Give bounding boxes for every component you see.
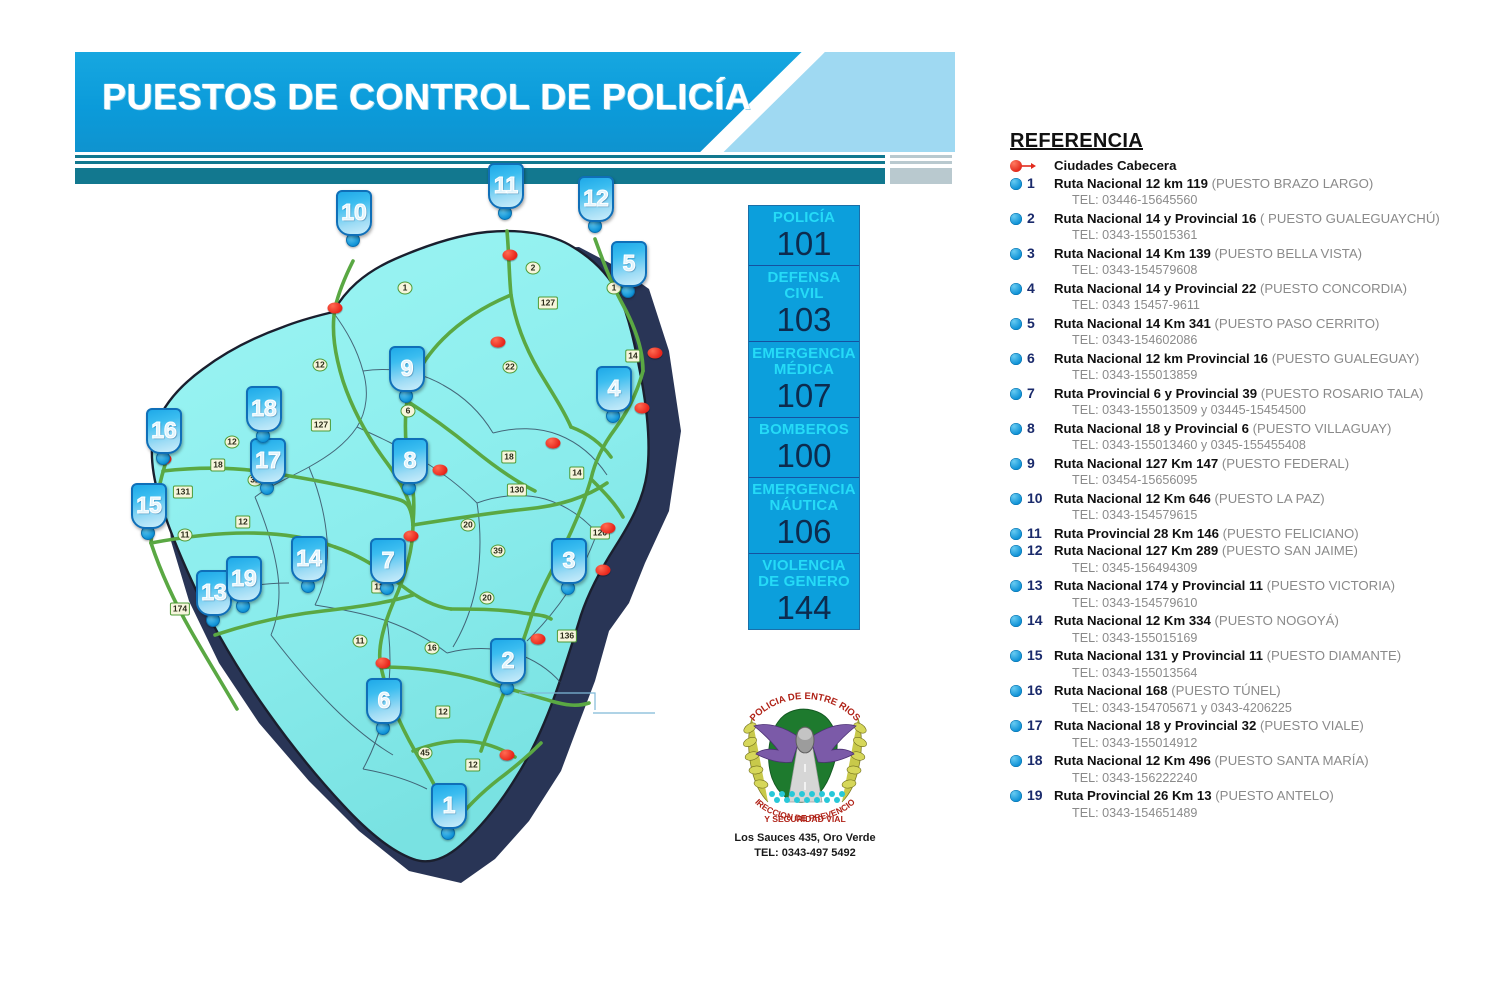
legend-item-number: 12 xyxy=(1027,542,1049,558)
legend-item-place: ( PUESTO GUALEGUAYCHÚ) xyxy=(1260,211,1440,226)
legend-item-place: (PUESTO VICTORIA) xyxy=(1267,578,1395,593)
control-post-marker-2[interactable]: 2 xyxy=(490,638,524,695)
legend-item-6: 6Ruta Nacional 12 km Provincial 16 (PUES… xyxy=(1010,350,1480,368)
legend-item-number: 6 xyxy=(1027,350,1049,366)
legend-item-7: 7Ruta Provincial 6 y Provincial 39 (PUES… xyxy=(1010,385,1480,403)
marker-shield-icon: 11 xyxy=(488,163,524,209)
emergency-cell-4: EMERGENCIA NÁUTICA106 xyxy=(749,478,859,554)
legend-item-place: (PUESTO BELLA VISTA) xyxy=(1215,246,1363,261)
legend-item-18: 18Ruta Nacional 12 Km 496 (PUESTO SANTA … xyxy=(1010,752,1480,770)
route-shield-131-14: 131 xyxy=(173,486,193,499)
crest-phone: TEL: 0343-497 5492 xyxy=(715,846,895,860)
legend-item-place: (PUESTO DIAMANTE) xyxy=(1267,648,1402,663)
legend-item-route: Ruta Nacional 127 Km 289 xyxy=(1054,543,1222,558)
legend-item-5: 5Ruta Nacional 14 Km 341 (PUESTO PASO CE… xyxy=(1010,315,1480,333)
legend-item-tel: TEL: 03446-15645560 xyxy=(1010,192,1480,210)
legend-item-route: Ruta Nacional 14 Km 341 xyxy=(1054,316,1215,331)
legend-item-number: 13 xyxy=(1027,577,1049,593)
marker-number: 7 xyxy=(372,544,404,576)
marker-number: 17 xyxy=(252,444,284,476)
legend-title: REFERENCIA xyxy=(1010,130,1480,153)
marker-shield-icon: 7 xyxy=(370,538,406,584)
emergency-number: 100 xyxy=(751,438,857,473)
legend-item-tel: TEL: 0343-154579610 xyxy=(1010,595,1480,613)
legend-item-tel: TEL: 0343-155013859 xyxy=(1010,367,1480,385)
legend-item-tel: TEL: 0345-156494309 xyxy=(1010,560,1480,578)
legend-item-text: Ruta Nacional 14 Km 341 (PUESTO PASO CER… xyxy=(1054,315,1480,333)
city-dot-0 xyxy=(328,303,343,314)
legend-bullet-icon xyxy=(1010,353,1022,365)
legend-item-route: Ruta Nacional 18 y Provincial 32 xyxy=(1054,718,1260,733)
route-shield-22-6: 22 xyxy=(503,361,518,374)
legend-item-9: 9Ruta Nacional 127 Km 147 (PUESTO FEDERA… xyxy=(1010,455,1480,473)
emergency-cell-3: BOMBEROS100 xyxy=(749,418,859,478)
city-dot-15 xyxy=(500,750,515,761)
control-post-marker-1[interactable]: 1 xyxy=(431,783,465,840)
route-shield-12-28: 12 xyxy=(435,706,450,719)
control-post-marker-4[interactable]: 4 xyxy=(596,366,630,423)
legend-bullet-icon xyxy=(1010,528,1022,540)
legend-item-route: Ruta Nacional 131 y Provincial 11 xyxy=(1054,648,1267,663)
marker-shield-icon: 16 xyxy=(146,408,182,454)
legend-bullet-icon xyxy=(1010,283,1022,295)
marker-shield-icon: 18 xyxy=(246,386,282,432)
marker-shield-icon: 6 xyxy=(366,678,402,724)
marker-shield-icon: 8 xyxy=(392,438,428,484)
route-shield-130-15: 130 xyxy=(507,484,527,497)
legend-bullet-icon xyxy=(1010,720,1022,732)
route-shield-39-19: 39 xyxy=(491,545,506,558)
marker-number: 3 xyxy=(553,544,585,576)
legend-item-route: Ruta Nacional 174 y Provincial 11 xyxy=(1054,578,1267,593)
arrow-icon xyxy=(1022,162,1038,170)
legend-item-tel: TEL: 03454-15656095 xyxy=(1010,472,1480,490)
control-post-marker-9[interactable]: 9 xyxy=(389,346,423,403)
marker-number: 12 xyxy=(580,182,612,214)
legend-bullet-icon xyxy=(1010,493,1022,505)
legend-bullet-icon xyxy=(1010,178,1022,190)
city-dot-8 xyxy=(596,565,611,576)
stripe-thin-2 xyxy=(75,161,885,164)
legend-item-19: 19Ruta Provincial 26 Km 13 (PUESTO ANTEL… xyxy=(1010,787,1480,805)
control-post-marker-13[interactable]: 13 xyxy=(196,570,230,627)
route-shield-2-1: 2 xyxy=(526,262,541,275)
legend-item-text: Ruta Nacional 12 Km 646 (PUESTO LA PAZ) xyxy=(1054,490,1480,508)
legend-item-number: 14 xyxy=(1027,612,1049,628)
legend-item-route: Ruta Provincial 28 Km 146 xyxy=(1054,526,1223,541)
legend-item-12: 12Ruta Nacional 127 Km 289 (PUESTO SAN J… xyxy=(1010,542,1480,560)
legend-item-place: (PUESTO FELICIANO) xyxy=(1223,526,1359,541)
marker-number: 6 xyxy=(368,684,400,716)
legend-item-tel: TEL: 0343 15457-9611 xyxy=(1010,297,1480,315)
route-shield-12-11: 12 xyxy=(225,436,240,449)
legend-item-tel: TEL: 0343-155013460 y 0345-155455408 xyxy=(1010,437,1480,455)
legend-item-4: 4Ruta Nacional 14 y Provincial 22 (PUEST… xyxy=(1010,280,1480,298)
control-post-marker-16[interactable]: 16 xyxy=(146,408,180,465)
route-shield-20-23: 20 xyxy=(480,592,495,605)
legend-item-14: 14Ruta Nacional 12 Km 334 (PUESTO NOGOYÁ… xyxy=(1010,612,1480,630)
control-post-marker-17[interactable]: 17 xyxy=(250,438,284,495)
legend-item-tel: TEL: 0343-154705671 y 0343-4206225 xyxy=(1010,700,1480,718)
route-shield-14-4: 14 xyxy=(625,350,640,363)
entre-rios-map[interactable]: 1211271412226127181412183213113011122039… xyxy=(95,195,695,895)
emergency-cell-0: POLICÍA101 xyxy=(749,206,859,266)
legend-item-tel: TEL: 0343-154579615 xyxy=(1010,507,1480,525)
route-shield-11-24: 11 xyxy=(353,635,368,648)
legend-item-place: (PUESTO ROSARIO TALA) xyxy=(1261,386,1424,401)
marker-number: 2 xyxy=(492,644,524,676)
legend-item-number: 1 xyxy=(1027,175,1049,191)
legend-item-route: Ruta Nacional 12 Km 646 xyxy=(1054,491,1215,506)
route-shield-127-3: 127 xyxy=(538,297,558,310)
control-post-marker-5[interactable]: 5 xyxy=(611,241,645,298)
route-shield-18-9: 18 xyxy=(501,451,516,464)
legend-item-text: Ruta Nacional 14 y Provincial 22 (PUESTO… xyxy=(1054,280,1480,298)
legend-item-text: Ruta Nacional 18 y Provincial 32 (PUESTO… xyxy=(1054,717,1480,735)
legend-item-10: 10Ruta Nacional 12 Km 646 (PUESTO LA PAZ… xyxy=(1010,490,1480,508)
city-dot-4 xyxy=(635,403,650,414)
control-post-marker-10[interactable]: 10 xyxy=(336,190,370,247)
legend-bullet-icon xyxy=(1010,248,1022,260)
marker-number: 16 xyxy=(148,414,180,446)
route-shield-14-10: 14 xyxy=(569,467,584,480)
city-dot-2 xyxy=(491,337,506,348)
city-dot-icon xyxy=(1010,160,1022,172)
legend-item-route: Ruta Provincial 6 y Provincial 39 xyxy=(1054,386,1261,401)
marker-shield-icon: 17 xyxy=(250,438,286,484)
legend-bullet-icon xyxy=(1010,755,1022,767)
stripe-thin-1 xyxy=(75,155,885,158)
police-crest: POLICIA DE ENTRE RIOS DIRECCION DE PREVE… xyxy=(715,690,895,860)
marker-number: 18 xyxy=(248,392,280,424)
crest-bottom-text-2: Y SEGURIDAD VIAL xyxy=(764,814,846,824)
legend-bullet-icon xyxy=(1010,790,1022,802)
legend-panel: REFERENCIA Ciudades Cabecera 1Ruta Nacio… xyxy=(1010,130,1480,822)
emergency-numbers-panel: POLICÍA101DEFENSA CIVIL103EMERGENCIA MÉD… xyxy=(748,205,860,630)
legend-item-place: (PUESTO FEDERAL) xyxy=(1222,456,1349,471)
header-banner: PUESTOS DE CONTROL DE POLICÍA xyxy=(75,52,955,152)
legend-item-number: 10 xyxy=(1027,490,1049,506)
legend-item-list: 1Ruta Nacional 12 km 119 (PUESTO BRAZO L… xyxy=(1010,175,1480,823)
legend-item-3: 3Ruta Nacional 14 Km 139 (PUESTO BELLA V… xyxy=(1010,245,1480,263)
stripe-right-1 xyxy=(890,155,952,158)
legend-city-label: Ciudades Cabecera xyxy=(1054,157,1480,175)
emergency-label: EMERGENCIA NÁUTICA xyxy=(751,482,857,514)
legend-item-place: (PUESTO SAN JAIME) xyxy=(1222,543,1358,558)
legend-item-route: Ruta Nacional 168 xyxy=(1054,683,1171,698)
marker-number: 15 xyxy=(133,489,165,521)
legend-item-text: Ruta Nacional 127 Km 289 (PUESTO SAN JAI… xyxy=(1054,542,1480,560)
marker-shield-icon: 3 xyxy=(551,538,587,584)
stripe-thick xyxy=(75,168,885,184)
emergency-label: VIOLENCIA DE GENERO xyxy=(751,558,857,590)
marker-number: 11 xyxy=(490,169,522,201)
emergency-number: 103 xyxy=(751,302,857,337)
crest-emblem: POLICIA DE ENTRE RIOS DIRECCION DE PREVE… xyxy=(730,690,880,830)
route-shield-6-7: 6 xyxy=(401,405,416,418)
marker-number: 10 xyxy=(338,196,370,228)
control-post-marker-14[interactable]: 14 xyxy=(291,536,325,593)
emergency-number: 144 xyxy=(751,590,857,625)
route-shield-136-26: 136 xyxy=(557,630,577,643)
legend-item-number: 19 xyxy=(1027,787,1049,803)
emergency-cell-2: EMERGENCIA MÉDICA107 xyxy=(749,342,859,418)
legend-bullet-icon xyxy=(1010,423,1022,435)
route-shield-12-30: 12 xyxy=(465,759,480,772)
legend-bullet-icon xyxy=(1010,650,1022,662)
legend-item-text: Ruta Nacional 127 Km 147 (PUESTO FEDERAL… xyxy=(1054,455,1480,473)
marker-shield-icon: 4 xyxy=(596,366,632,412)
legend-item-2: 2Ruta Nacional 14 y Provincial 16 ( PUES… xyxy=(1010,210,1480,228)
emergency-cell-1: DEFENSA CIVIL103 xyxy=(749,266,859,342)
legend-item-route: Ruta Nacional 127 Km 147 xyxy=(1054,456,1222,471)
legend-item-text: Ruta Nacional 131 y Provincial 11 (PUEST… xyxy=(1054,647,1480,665)
control-post-marker-12[interactable]: 12 xyxy=(578,176,612,233)
legend-item-tel: TEL: 0343-155013509 y 03445-15454500 xyxy=(1010,402,1480,420)
legend-item-route: Ruta Nacional 18 y Provincial 6 xyxy=(1054,421,1253,436)
legend-item-text: Ruta Nacional 174 y Provincial 11 (PUEST… xyxy=(1054,577,1480,595)
legend-item-tel: TEL: 0343-155015169 xyxy=(1010,630,1480,648)
marker-number: 1 xyxy=(433,789,465,821)
legend-item-number: 3 xyxy=(1027,245,1049,261)
marker-number: 9 xyxy=(391,352,423,384)
legend-item-place: (PUESTO VIALE) xyxy=(1260,718,1364,733)
legend-item-place: (PUESTO TÚNEL) xyxy=(1171,683,1280,698)
legend-item-place: (PUESTO NOGOYÁ) xyxy=(1215,613,1339,628)
marker-shield-icon: 9 xyxy=(389,346,425,392)
legend-item-place: (PUESTO GUALEGUAY) xyxy=(1272,351,1420,366)
city-dot-7 xyxy=(601,523,616,534)
marker-shield-icon: 12 xyxy=(578,176,614,222)
control-post-marker-19[interactable]: 19 xyxy=(226,556,260,613)
legend-item-text: Ruta Nacional 18 y Provincial 6 (PUESTO … xyxy=(1054,420,1480,438)
marker-number: 5 xyxy=(613,247,645,279)
legend-item-place: (PUESTO BRAZO LARGO) xyxy=(1212,176,1374,191)
legend-item-number: 7 xyxy=(1027,385,1049,401)
marker-shield-icon: 1 xyxy=(431,783,467,829)
legend-item-text: Ruta Nacional 14 Km 139 (PUESTO BELLA VI… xyxy=(1054,245,1480,263)
city-dot-3 xyxy=(648,348,663,359)
legend-item-number: 9 xyxy=(1027,455,1049,471)
marker-number: 8 xyxy=(394,444,426,476)
legend-bullet-icon xyxy=(1010,318,1022,330)
legend-item-place: (PUESTO LA PAZ) xyxy=(1215,491,1325,506)
legend-item-text: Ruta Nacional 12 km 119 (PUESTO BRAZO LA… xyxy=(1054,175,1480,193)
route-shield-12-5: 12 xyxy=(313,359,328,372)
city-dot-6 xyxy=(546,438,561,449)
route-shield-11-16: 11 xyxy=(178,529,193,542)
legend-bullet-icon xyxy=(1010,545,1022,557)
marker-number: 14 xyxy=(293,542,325,574)
legend-item-13: 13Ruta Nacional 174 y Provincial 11 (PUE… xyxy=(1010,577,1480,595)
legend-item-tel: TEL: 0343-154602086 xyxy=(1010,332,1480,350)
legend-item-place: (PUESTO VILLAGUAY) xyxy=(1253,421,1392,436)
legend-item-tel: TEL: 0343-155015361 xyxy=(1010,227,1480,245)
legend-item-text: Ruta Provincial 6 y Provincial 39 (PUEST… xyxy=(1054,385,1480,403)
marker-number: 19 xyxy=(228,562,260,594)
legend-item-route: Ruta Nacional 14 y Provincial 22 xyxy=(1054,281,1260,296)
marker-shield-icon: 19 xyxy=(226,556,262,602)
legend-item-number: 8 xyxy=(1027,420,1049,436)
legend-item-number: 5 xyxy=(1027,315,1049,331)
legend-bullet-icon xyxy=(1010,388,1022,400)
legend-item-number: 17 xyxy=(1027,717,1049,733)
route-shield-16-25: 16 xyxy=(425,642,440,655)
legend-item-text: Ruta Nacional 168 (PUESTO TÚNEL) xyxy=(1054,682,1480,700)
legend-item-text: Ruta Nacional 12 Km 496 (PUESTO SANTA MA… xyxy=(1054,752,1480,770)
legend-item-text: Ruta Provincial 26 Km 13 (PUESTO ANTELO) xyxy=(1054,787,1480,805)
route-shield-174-21: 174 xyxy=(170,603,190,616)
legend-item-number: 4 xyxy=(1027,280,1049,296)
control-post-marker-18[interactable]: 18 xyxy=(246,386,280,443)
legend-item-route: Ruta Nacional 12 Km 496 xyxy=(1054,753,1215,768)
emergency-number: 107 xyxy=(751,378,857,413)
marker-shield-icon: 10 xyxy=(336,190,372,236)
legend-item-route: Ruta Nacional 12 km 119 xyxy=(1054,176,1212,191)
legend-item-place: (PUESTO PASO CERRITO) xyxy=(1215,316,1380,331)
legend-item-1: 1Ruta Nacional 12 km 119 (PUESTO BRAZO L… xyxy=(1010,175,1480,193)
legend-item-route: Ruta Provincial 26 Km 13 xyxy=(1054,788,1215,803)
legend-item-place: (PUESTO SANTA MARÍA) xyxy=(1215,753,1369,768)
legend-bullet-icon xyxy=(1010,615,1022,627)
legend-item-11: 11Ruta Provincial 28 Km 146 (PUESTO FELI… xyxy=(1010,525,1480,543)
legend-bullet-icon xyxy=(1010,580,1022,592)
legend-bullet-icon xyxy=(1010,685,1022,697)
legend-item-route: Ruta Nacional 14 Km 139 xyxy=(1054,246,1215,261)
legend-item-15: 15Ruta Nacional 131 y Provincial 11 (PUE… xyxy=(1010,647,1480,665)
page-title: PUESTOS DE CONTROL DE POLICÍA xyxy=(102,76,751,118)
legend-item-text: Ruta Nacional 12 km Provincial 16 (PUEST… xyxy=(1054,350,1480,368)
legend-item-tel: TEL: 0343-155013564 xyxy=(1010,665,1480,683)
emergency-label: BOMBEROS xyxy=(751,422,857,438)
control-post-marker-15[interactable]: 15 xyxy=(131,483,165,540)
stripe-right-2 xyxy=(890,161,952,164)
legend-item-ciudades-cabecera: Ciudades Cabecera xyxy=(1010,157,1480,175)
legend-item-number: 15 xyxy=(1027,647,1049,663)
marker-number: 4 xyxy=(598,372,630,404)
legend-item-tel: TEL: 0343-156222240 xyxy=(1010,770,1480,788)
legend-item-route: Ruta Nacional 14 y Provincial 16 xyxy=(1054,211,1260,226)
legend-item-number: 16 xyxy=(1027,682,1049,698)
emergency-label: POLICÍA xyxy=(751,210,857,226)
city-dot-9 xyxy=(404,531,419,542)
legend-item-number: 2 xyxy=(1027,210,1049,226)
legend-item-number: 18 xyxy=(1027,752,1049,768)
emergency-label: EMERGENCIA MÉDICA xyxy=(751,346,857,378)
control-post-marker-3[interactable]: 3 xyxy=(551,538,585,595)
marker-shield-icon: 14 xyxy=(291,536,327,582)
marker-shield-icon: 2 xyxy=(490,638,526,684)
route-shield-1-0: 1 xyxy=(398,282,413,295)
route-shield-45-29: 45 xyxy=(418,747,433,760)
legend-item-route: Ruta Nacional 12 Km 334 xyxy=(1054,613,1215,628)
legend-item-tel: TEL: 0343-154579608 xyxy=(1010,262,1480,280)
emergency-cell-5: VIOLENCIA DE GENERO144 xyxy=(749,554,859,629)
legend-item-tel: TEL: 0343-154651489 xyxy=(1010,805,1480,823)
emergency-number: 101 xyxy=(751,226,857,261)
city-dot-5 xyxy=(433,465,448,476)
legend-item-8: 8Ruta Nacional 18 y Provincial 6 (PUESTO… xyxy=(1010,420,1480,438)
legend-item-17: 17Ruta Nacional 18 y Provincial 32 (PUES… xyxy=(1010,717,1480,735)
legend-item-number: 11 xyxy=(1027,525,1049,541)
legend-item-tel: TEL: 0343-155014912 xyxy=(1010,735,1480,753)
legend-bullet-icon xyxy=(1010,213,1022,225)
city-dot-13 xyxy=(376,658,391,669)
control-post-marker-6[interactable]: 6 xyxy=(366,678,400,735)
control-post-marker-8[interactable]: 8 xyxy=(392,438,426,495)
legend-item-route: Ruta Nacional 12 km Provincial 16 xyxy=(1054,351,1272,366)
legend-item-text: Ruta Nacional 14 y Provincial 16 ( PUEST… xyxy=(1054,210,1480,228)
stripe-right-3 xyxy=(890,168,952,184)
control-post-marker-11[interactable]: 11 xyxy=(488,163,522,220)
emergency-number: 106 xyxy=(751,514,857,549)
legend-item-text: Ruta Provincial 28 Km 146 (PUESTO FELICI… xyxy=(1054,525,1480,543)
legend-item-16: 16Ruta Nacional 168 (PUESTO TÚNEL) xyxy=(1010,682,1480,700)
route-shield-12-17: 12 xyxy=(235,516,250,529)
legend-bullet-icon xyxy=(1010,458,1022,470)
route-shield-127-8: 127 xyxy=(311,419,331,432)
marker-shield-icon: 15 xyxy=(131,483,167,529)
legend-item-text: Ruta Nacional 12 Km 334 (PUESTO NOGOYÁ) xyxy=(1054,612,1480,630)
marker-shield-icon: 5 xyxy=(611,241,647,287)
emergency-label: DEFENSA CIVIL xyxy=(751,270,857,302)
city-dot-14 xyxy=(531,634,546,645)
city-dot-1 xyxy=(503,250,518,261)
legend-item-place: (PUESTO CONCORDIA) xyxy=(1260,281,1407,296)
crest-address: Los Sauces 435, Oro Verde xyxy=(715,831,895,845)
route-shield-20-18: 20 xyxy=(461,519,476,532)
legend-item-place: (PUESTO ANTELO) xyxy=(1215,788,1333,803)
control-post-marker-7[interactable]: 7 xyxy=(370,538,404,595)
route-shield-18-12: 18 xyxy=(210,459,225,472)
